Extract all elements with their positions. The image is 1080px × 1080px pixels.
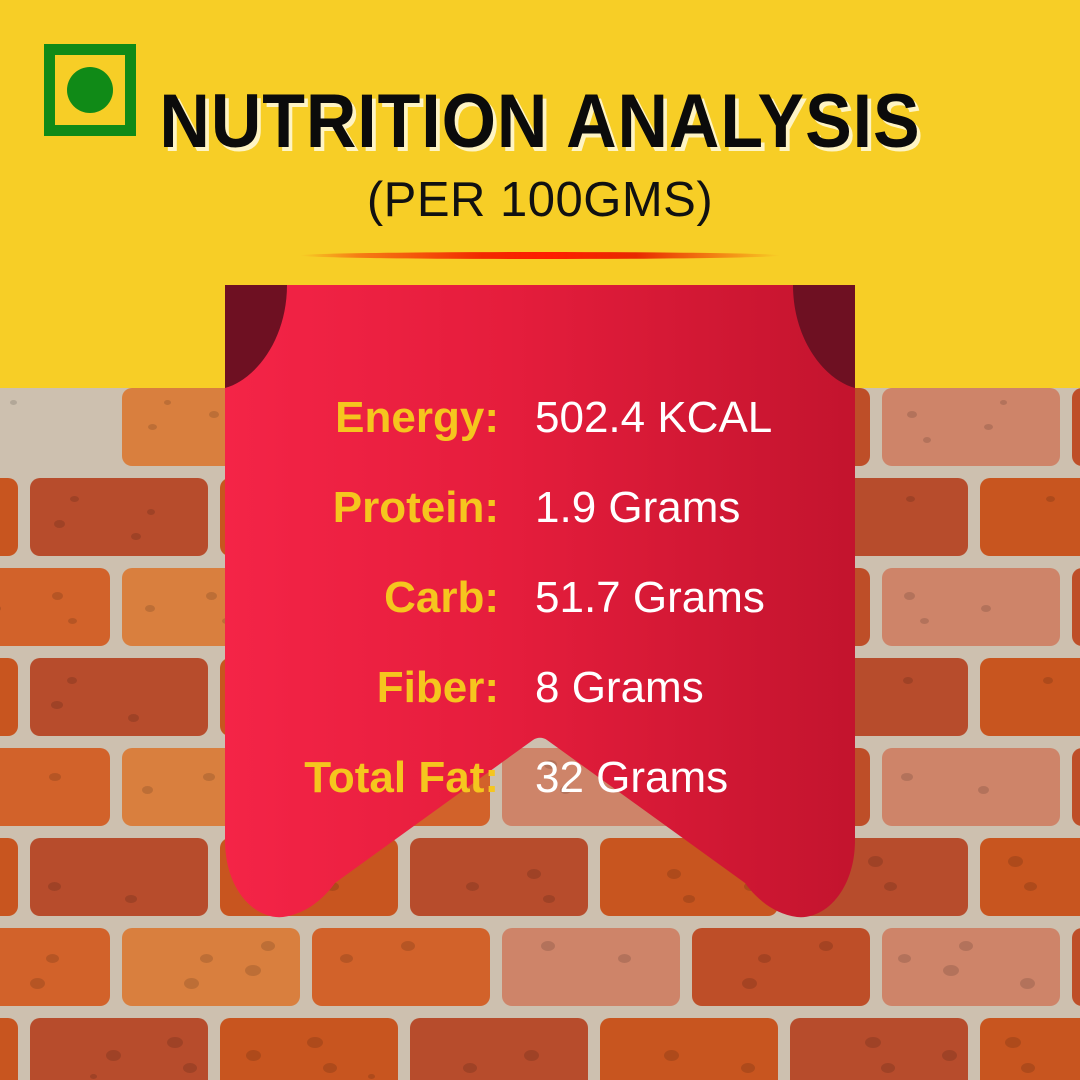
brick bbox=[0, 838, 18, 916]
brick-speckle bbox=[67, 677, 77, 684]
brick-speckle bbox=[184, 978, 199, 989]
nutrient-value: 8 Grams bbox=[535, 666, 855, 710]
nutrient-value: 51.7 Grams bbox=[535, 576, 855, 620]
brick bbox=[882, 748, 1060, 826]
brick-speckle bbox=[943, 965, 959, 976]
divider bbox=[300, 252, 780, 259]
brick-speckle bbox=[463, 1063, 477, 1073]
brick bbox=[220, 1018, 398, 1080]
brick-speckle bbox=[819, 941, 833, 951]
brick-speckle bbox=[884, 882, 897, 891]
nutrient-label: Energy: bbox=[225, 396, 535, 440]
brick bbox=[410, 1018, 588, 1080]
brick bbox=[1072, 388, 1080, 466]
brick-speckle bbox=[368, 1074, 375, 1079]
brick-speckle bbox=[984, 424, 993, 430]
brick bbox=[0, 748, 110, 826]
brick-speckle bbox=[148, 424, 157, 430]
brick bbox=[30, 478, 208, 556]
brick-speckle bbox=[48, 882, 61, 891]
brick-speckle bbox=[340, 954, 353, 963]
brick bbox=[882, 928, 1060, 1006]
brick-speckle bbox=[90, 1074, 97, 1079]
nutrient-label: Fiber: bbox=[225, 666, 535, 710]
brick-speckle bbox=[145, 605, 155, 612]
brick-speckle bbox=[920, 618, 929, 624]
brick-speckle bbox=[923, 437, 931, 443]
brick-speckle bbox=[183, 1063, 197, 1073]
brick bbox=[980, 658, 1080, 736]
brick bbox=[312, 928, 490, 1006]
brick-speckle bbox=[106, 1050, 121, 1061]
brick bbox=[980, 478, 1080, 556]
brick-speckle bbox=[147, 509, 155, 515]
brick-speckle bbox=[1043, 677, 1053, 684]
brick bbox=[980, 838, 1080, 916]
brick-speckle bbox=[898, 954, 911, 963]
brick-speckle bbox=[49, 773, 61, 781]
brick-speckle bbox=[1024, 882, 1037, 891]
brick-speckle bbox=[246, 1050, 261, 1061]
brick bbox=[0, 658, 18, 736]
infographic-canvas: NUTRITION ANALYSIS (PER 100GMS) Energy: … bbox=[0, 0, 1080, 1080]
brick bbox=[122, 928, 300, 1006]
brick-speckle bbox=[323, 1063, 337, 1073]
brick bbox=[1072, 748, 1080, 826]
brick bbox=[30, 838, 208, 916]
brick-speckle bbox=[959, 941, 973, 951]
brick-speckle bbox=[978, 786, 989, 794]
brick-speckle bbox=[942, 1050, 957, 1061]
brick-speckle bbox=[742, 978, 757, 989]
brick-speckle bbox=[245, 965, 261, 976]
brick bbox=[692, 928, 870, 1006]
brick bbox=[882, 388, 1060, 466]
brick bbox=[882, 568, 1060, 646]
brick-speckle bbox=[200, 954, 213, 963]
nutrition-table: Energy: 502.4 KCAL Protein: 1.9 Grams Ca… bbox=[225, 285, 855, 935]
brick-speckle bbox=[46, 954, 59, 963]
table-row: Carb: 51.7 Grams bbox=[225, 570, 855, 626]
brick-speckle bbox=[1005, 1037, 1021, 1048]
brick-speckle bbox=[51, 701, 63, 709]
brick bbox=[0, 568, 110, 646]
brick-speckle bbox=[881, 1063, 895, 1073]
brick-speckle bbox=[401, 941, 415, 951]
nutrient-value: 32 Grams bbox=[535, 756, 855, 800]
table-row: Total Fat: 32 Grams bbox=[225, 750, 855, 806]
brick-speckle bbox=[125, 895, 137, 903]
page-subtitle: (PER 100GMS) bbox=[0, 172, 1080, 228]
table-row: Protein: 1.9 Grams bbox=[225, 480, 855, 536]
nutrient-label: Total Fat: bbox=[225, 756, 535, 800]
nutrient-value: 502.4 KCAL bbox=[535, 396, 855, 440]
brick-speckle bbox=[868, 856, 883, 867]
brick-speckle bbox=[981, 605, 991, 612]
brick-speckle bbox=[68, 618, 77, 624]
brick-speckle bbox=[30, 978, 45, 989]
brick-speckle bbox=[865, 1037, 881, 1048]
brick-speckle bbox=[1046, 496, 1055, 502]
nutrient-label: Carb: bbox=[225, 576, 535, 620]
brick-speckle bbox=[904, 592, 915, 600]
brick-speckle bbox=[541, 941, 555, 951]
nutrient-label: Protein: bbox=[225, 486, 535, 530]
brick bbox=[0, 478, 18, 556]
brick-speckle bbox=[903, 677, 913, 684]
brick-speckle bbox=[741, 1063, 755, 1073]
brick bbox=[0, 388, 110, 466]
brick-speckle bbox=[10, 400, 17, 405]
brick-speckle bbox=[54, 520, 65, 528]
brick bbox=[30, 658, 208, 736]
page-title: NUTRITION ANALYSIS bbox=[43, 78, 1037, 165]
table-row: Fiber: 8 Grams bbox=[225, 660, 855, 716]
brick-speckle bbox=[1020, 978, 1035, 989]
nutrient-value: 1.9 Grams bbox=[535, 486, 855, 530]
brick-speckle bbox=[261, 941, 275, 951]
brick-speckle bbox=[203, 773, 215, 781]
brick-speckle bbox=[142, 786, 153, 794]
brick-speckle bbox=[307, 1037, 323, 1048]
brick-speckle bbox=[131, 533, 141, 540]
brick bbox=[1072, 568, 1080, 646]
brick-speckle bbox=[209, 411, 219, 418]
brick-speckle bbox=[52, 592, 63, 600]
brick-speckle bbox=[901, 773, 913, 781]
brick-speckle bbox=[128, 714, 139, 722]
brick bbox=[1072, 928, 1080, 1006]
brick-speckle bbox=[618, 954, 631, 963]
brick-speckle bbox=[524, 1050, 539, 1061]
brick-speckle bbox=[1000, 400, 1007, 405]
brick-speckle bbox=[1008, 856, 1023, 867]
brick-speckle bbox=[70, 496, 79, 502]
brick-speckle bbox=[206, 592, 217, 600]
brick bbox=[502, 928, 680, 1006]
brick bbox=[0, 1018, 18, 1080]
brick-speckle bbox=[1021, 1063, 1035, 1073]
brick-speckle bbox=[164, 400, 171, 405]
table-row: Energy: 502.4 KCAL bbox=[225, 390, 855, 446]
brick-speckle bbox=[167, 1037, 183, 1048]
brick-speckle bbox=[758, 954, 771, 963]
brick-speckle bbox=[664, 1050, 679, 1061]
brick-speckle bbox=[906, 496, 915, 502]
brick-speckle bbox=[907, 411, 917, 418]
brick bbox=[30, 1018, 208, 1080]
brick bbox=[0, 928, 110, 1006]
brick bbox=[790, 1018, 968, 1080]
